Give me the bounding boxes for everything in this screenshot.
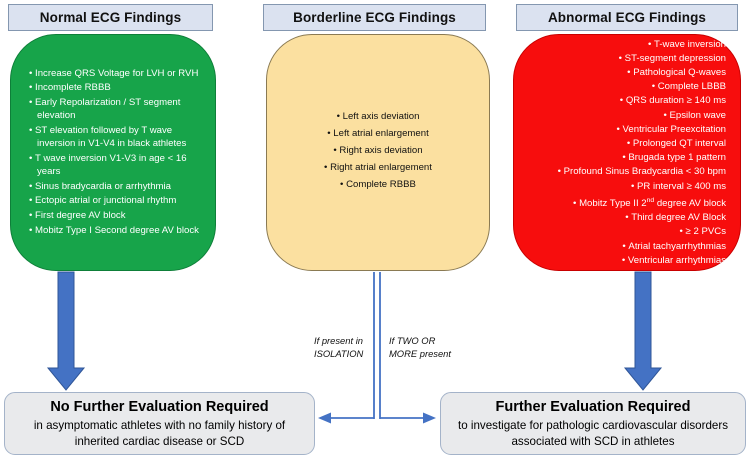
finding-item: Right atrial enlargement [279, 161, 477, 174]
header-normal-ecg-findings: Normal ECG Findings [8, 4, 213, 31]
finding-item: Mobitz Type II 2nd degree AV block [526, 194, 726, 210]
finding-item: Mobitz Type I Second degree AV block [29, 224, 205, 237]
abnormal-findings-list: T-wave inversionST-segment depressionPat… [514, 37, 740, 267]
arrow-normal-to-no-further [48, 272, 84, 390]
arrowhead-right [423, 413, 436, 424]
finding-item: T-wave inversion [526, 37, 726, 50]
panel-borderline-findings: Left axis deviationLeft atrial enlargeme… [266, 34, 490, 271]
arrowhead-left [318, 413, 331, 424]
finding-item: Ectopic atrial or junctional rhythm [29, 194, 205, 207]
finding-item: ST-segment depression [526, 51, 726, 64]
conclusion-further-evaluation: Further Evaluation Required to investiga… [440, 392, 746, 455]
finding-item: T wave inversion V1-V3 in age < 16 years [29, 152, 205, 178]
conclusion-no-further-subtitle: in asymptomatic athletes with no family … [15, 418, 304, 449]
finding-item: Complete RBBB [279, 178, 477, 191]
normal-findings-list: Increase QRS Voltage for LVH or RVHIncom… [11, 67, 215, 239]
finding-item: First degree AV block [29, 209, 205, 222]
conclusion-no-further-title: No Further Evaluation Required [50, 398, 268, 417]
header-borderline-ecg-findings: Borderline ECG Findings [263, 4, 486, 31]
finding-item: Right axis deviation [279, 144, 477, 157]
branch-label-two-or-more: If TWO OR MORE present [389, 335, 459, 360]
finding-item: Pathological Q-waves [526, 66, 726, 79]
finding-item: Atrial tachyarrhythmias [526, 239, 726, 252]
finding-item: Prolonged QT interval [526, 137, 726, 150]
finding-item: Third degree AV Block [526, 211, 726, 224]
finding-item: Brugada type 1 pattern [526, 151, 726, 164]
finding-item: QRS duration ≥ 140 ms [526, 94, 726, 107]
finding-item: Incomplete RBBB [29, 81, 205, 94]
panel-abnormal-findings: T-wave inversionST-segment depressionPat… [513, 34, 741, 271]
header-abnormal-ecg-findings: Abnormal ECG Findings [516, 4, 738, 31]
finding-item: Left axis deviation [279, 109, 477, 122]
finding-item: Epsilon wave [526, 108, 726, 121]
finding-item: ST elevation followed by T wave inversio… [29, 124, 205, 150]
borderline-findings-list: Left axis deviationLeft atrial enlargeme… [267, 109, 489, 195]
finding-item: Complete LBBB [526, 80, 726, 93]
arrow-abnormal-to-further [625, 272, 661, 390]
conclusion-no-further-evaluation: No Further Evaluation Required in asympt… [4, 392, 315, 455]
finding-item: Left atrial enlargement [279, 127, 477, 140]
finding-item: PR interval ≥ 400 ms [526, 179, 726, 192]
finding-item: Sinus bradycardia or arrhythmia [29, 180, 205, 193]
finding-item: Ventricular Preexcitation [526, 123, 726, 136]
finding-item: Increase QRS Voltage for LVH or RVH [29, 67, 205, 80]
finding-item: Early Repolarization / ST segment elevat… [29, 96, 205, 122]
finding-item: ≥ 2 PVCs [526, 225, 726, 238]
branch-label-isolation: If present in ISOLATION [314, 335, 376, 360]
panel-normal-findings: Increase QRS Voltage for LVH or RVHIncom… [10, 34, 216, 271]
conclusion-further-subtitle: to investigate for pathologic cardiovasc… [451, 418, 735, 449]
conclusion-further-title: Further Evaluation Required [496, 398, 691, 417]
finding-item: Profound Sinus Bradycardia < 30 bpm [526, 165, 726, 178]
finding-item: Ventricular arrhythmias [526, 254, 726, 267]
